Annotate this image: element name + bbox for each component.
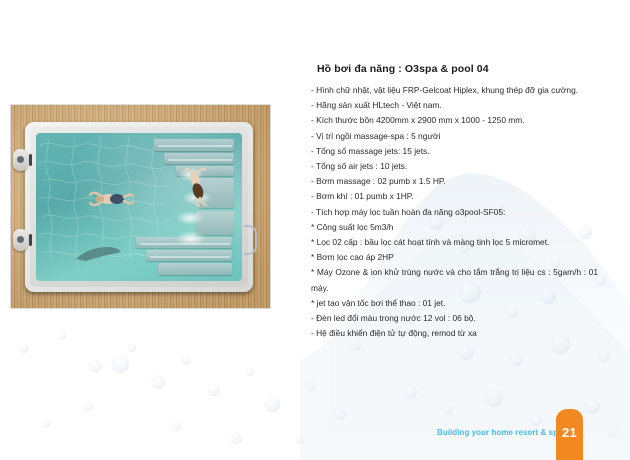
spec-line: - Vị trí ngồi massage-spa : 5 người bbox=[311, 129, 611, 144]
pool-step-3 bbox=[158, 263, 232, 275]
swimmer-diving bbox=[184, 167, 210, 207]
spec-line: - Bơm khí : 01 pumb x 1HP. bbox=[311, 189, 611, 204]
massage-jet-plume bbox=[176, 211, 204, 225]
spec-line: - Kích thước bồn 4200mm x 2900 mm x 1000… bbox=[311, 113, 611, 128]
spec-line: * Lọc 02 cấp : bầu lọc cát hoạt tính và … bbox=[311, 235, 611, 250]
step-edge bbox=[168, 159, 232, 161]
spec-line: - Hãng sản xuất HLtech - Việt nam. bbox=[311, 98, 611, 113]
skimmer-bar-upper bbox=[29, 154, 32, 166]
spec-line: * Máy Ozone & ion khử trùng nước và cho … bbox=[311, 265, 598, 295]
massage-jet-plume bbox=[176, 231, 206, 246]
pool-shell bbox=[25, 122, 253, 292]
spec-line: * Bơm lọc cao áp 2HP bbox=[311, 250, 611, 265]
skimmer-lower bbox=[13, 229, 28, 251]
step-edge bbox=[158, 145, 232, 147]
page-number: 21 bbox=[556, 425, 583, 440]
spec-line: - Đèn led đổi màu trong nước 12 vol : 06… bbox=[311, 311, 611, 326]
swimmer-floating bbox=[88, 187, 134, 211]
pool-water bbox=[36, 133, 242, 281]
pool-ladder-handrail bbox=[244, 225, 257, 255]
spec-line: - Hình chữ nhật, vật liệu FRP-Gelcoat Hi… bbox=[311, 83, 611, 98]
step-edge bbox=[150, 256, 230, 258]
pool-shadow-object bbox=[74, 245, 122, 263]
spec-line: - Tổng số air jets : 10 jets. bbox=[311, 159, 611, 174]
skimmer-upper bbox=[13, 149, 28, 171]
spec-line: - Tích hợp máy lọc tuần hoàn đa năng o3p… bbox=[311, 205, 611, 220]
spec-line: * Công suất lọc 5m3/h bbox=[311, 220, 611, 235]
page-title: Hồ bơi đa năng : O3spa & pool 04 bbox=[317, 63, 611, 75]
brochure-page: Hồ bơi đa năng : O3spa & pool 04 - Hình … bbox=[0, 0, 630, 460]
spec-line: * jet tạo vận tốc bơi thể thao : 01 jet. bbox=[311, 296, 611, 311]
specification-panel: Hồ bơi đa năng : O3spa & pool 04 - Hình … bbox=[311, 63, 611, 341]
page-number-tab: 21 bbox=[556, 409, 583, 460]
spec-line: - Tổng số massage jets: 15 jets. bbox=[311, 144, 611, 159]
footer-tagline: Building your home resort & spa bbox=[437, 428, 563, 437]
spec-line: - Bơm massage : 02 pumb x 1.5 HP. bbox=[311, 174, 611, 189]
skimmer-bar-lower bbox=[29, 234, 32, 246]
pool-photo bbox=[11, 105, 270, 308]
spec-line: - Hệ điều khiển điện tử tự động, remod t… bbox=[311, 326, 611, 341]
